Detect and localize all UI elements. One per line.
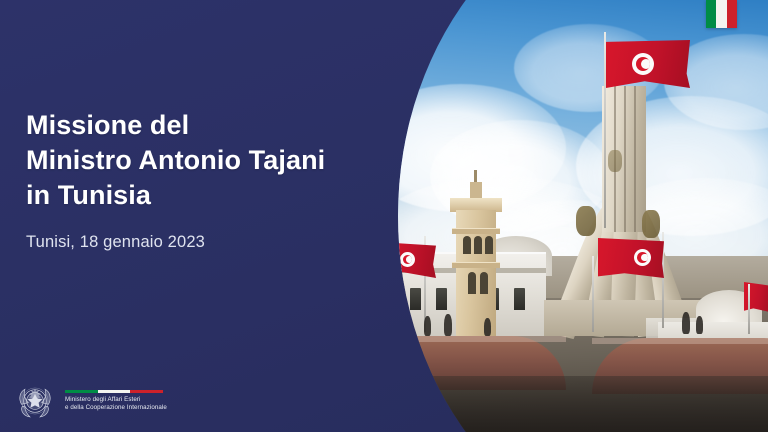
presentation-slide: Missione del Ministro Antonio Tajani in … bbox=[0, 0, 768, 432]
planter-rim bbox=[396, 336, 566, 342]
footer-tricolor-bar bbox=[65, 390, 163, 393]
subtitle-location-date: Tunisi, 18 gennaio 2023 bbox=[26, 231, 376, 253]
tunisian-flag-disc bbox=[632, 53, 654, 75]
footer-branding: Ministero degli Affari Esteri e della Co… bbox=[0, 370, 420, 432]
flagpole bbox=[604, 32, 606, 228]
ministry-name: Ministero degli Affari Esteri e della Co… bbox=[65, 396, 167, 412]
title-block: Missione del Ministro Antonio Tajani in … bbox=[26, 108, 376, 253]
monument-relief bbox=[576, 206, 596, 236]
tunisian-flag bbox=[598, 238, 664, 278]
title-line-1: Missione del bbox=[26, 108, 376, 143]
footer-text-group: Ministero degli Affari Esteri e della Co… bbox=[65, 390, 167, 412]
italian-flag-ribbon bbox=[706, 0, 737, 28]
title-line-3: in Tunisia bbox=[26, 178, 376, 213]
crescent-star bbox=[636, 57, 650, 71]
tunisian-flag bbox=[606, 40, 690, 88]
foreground-paving bbox=[396, 376, 768, 432]
person-silhouette bbox=[444, 314, 452, 336]
title-line-2: Ministro Antonio Tajani bbox=[26, 143, 376, 178]
window bbox=[436, 288, 447, 310]
ribbon-stripe-green bbox=[706, 0, 716, 28]
flagpole bbox=[592, 256, 594, 332]
hero-photo bbox=[396, 0, 768, 432]
ministry-line-2: e della Cooperazione Internazionale bbox=[65, 404, 167, 412]
shaft-groove bbox=[624, 86, 626, 232]
bar-green bbox=[65, 390, 98, 393]
tower-arch-window bbox=[480, 272, 488, 294]
crescent-star bbox=[403, 255, 412, 264]
shaft-groove bbox=[634, 86, 636, 232]
ribbon-stripe-red bbox=[727, 0, 737, 28]
bar-white bbox=[98, 390, 131, 393]
monument-relief bbox=[642, 210, 660, 238]
tower-arch-window bbox=[474, 236, 482, 254]
tower-arch-window bbox=[485, 236, 493, 254]
person-silhouette bbox=[424, 316, 431, 336]
person-silhouette bbox=[484, 318, 491, 336]
photo-kasbah-square-tunis bbox=[396, 0, 768, 432]
ministry-line-1: Ministero degli Affari Esteri bbox=[65, 396, 167, 404]
page-title: Missione del Ministro Antonio Tajani in … bbox=[26, 108, 376, 213]
person-silhouette bbox=[682, 312, 690, 334]
tower-arch-window bbox=[468, 272, 476, 294]
crescent-star bbox=[637, 252, 648, 263]
window bbox=[514, 288, 525, 310]
planter-rim bbox=[592, 338, 768, 344]
person-silhouette bbox=[696, 316, 703, 334]
tunisian-flag-disc bbox=[634, 249, 651, 266]
tower-band bbox=[452, 228, 500, 234]
monument-inscription bbox=[608, 150, 622, 172]
ribbon-stripe-white bbox=[716, 0, 726, 28]
tower-arch-window bbox=[463, 236, 471, 254]
emblem-of-italy-icon bbox=[14, 380, 56, 422]
flagpole bbox=[748, 284, 750, 334]
bar-red bbox=[130, 390, 163, 393]
tower-band bbox=[452, 262, 500, 268]
clock-tower bbox=[456, 210, 496, 336]
window bbox=[410, 288, 421, 310]
tunisian-flag bbox=[396, 242, 436, 278]
tunisian-flag-disc bbox=[400, 252, 415, 267]
